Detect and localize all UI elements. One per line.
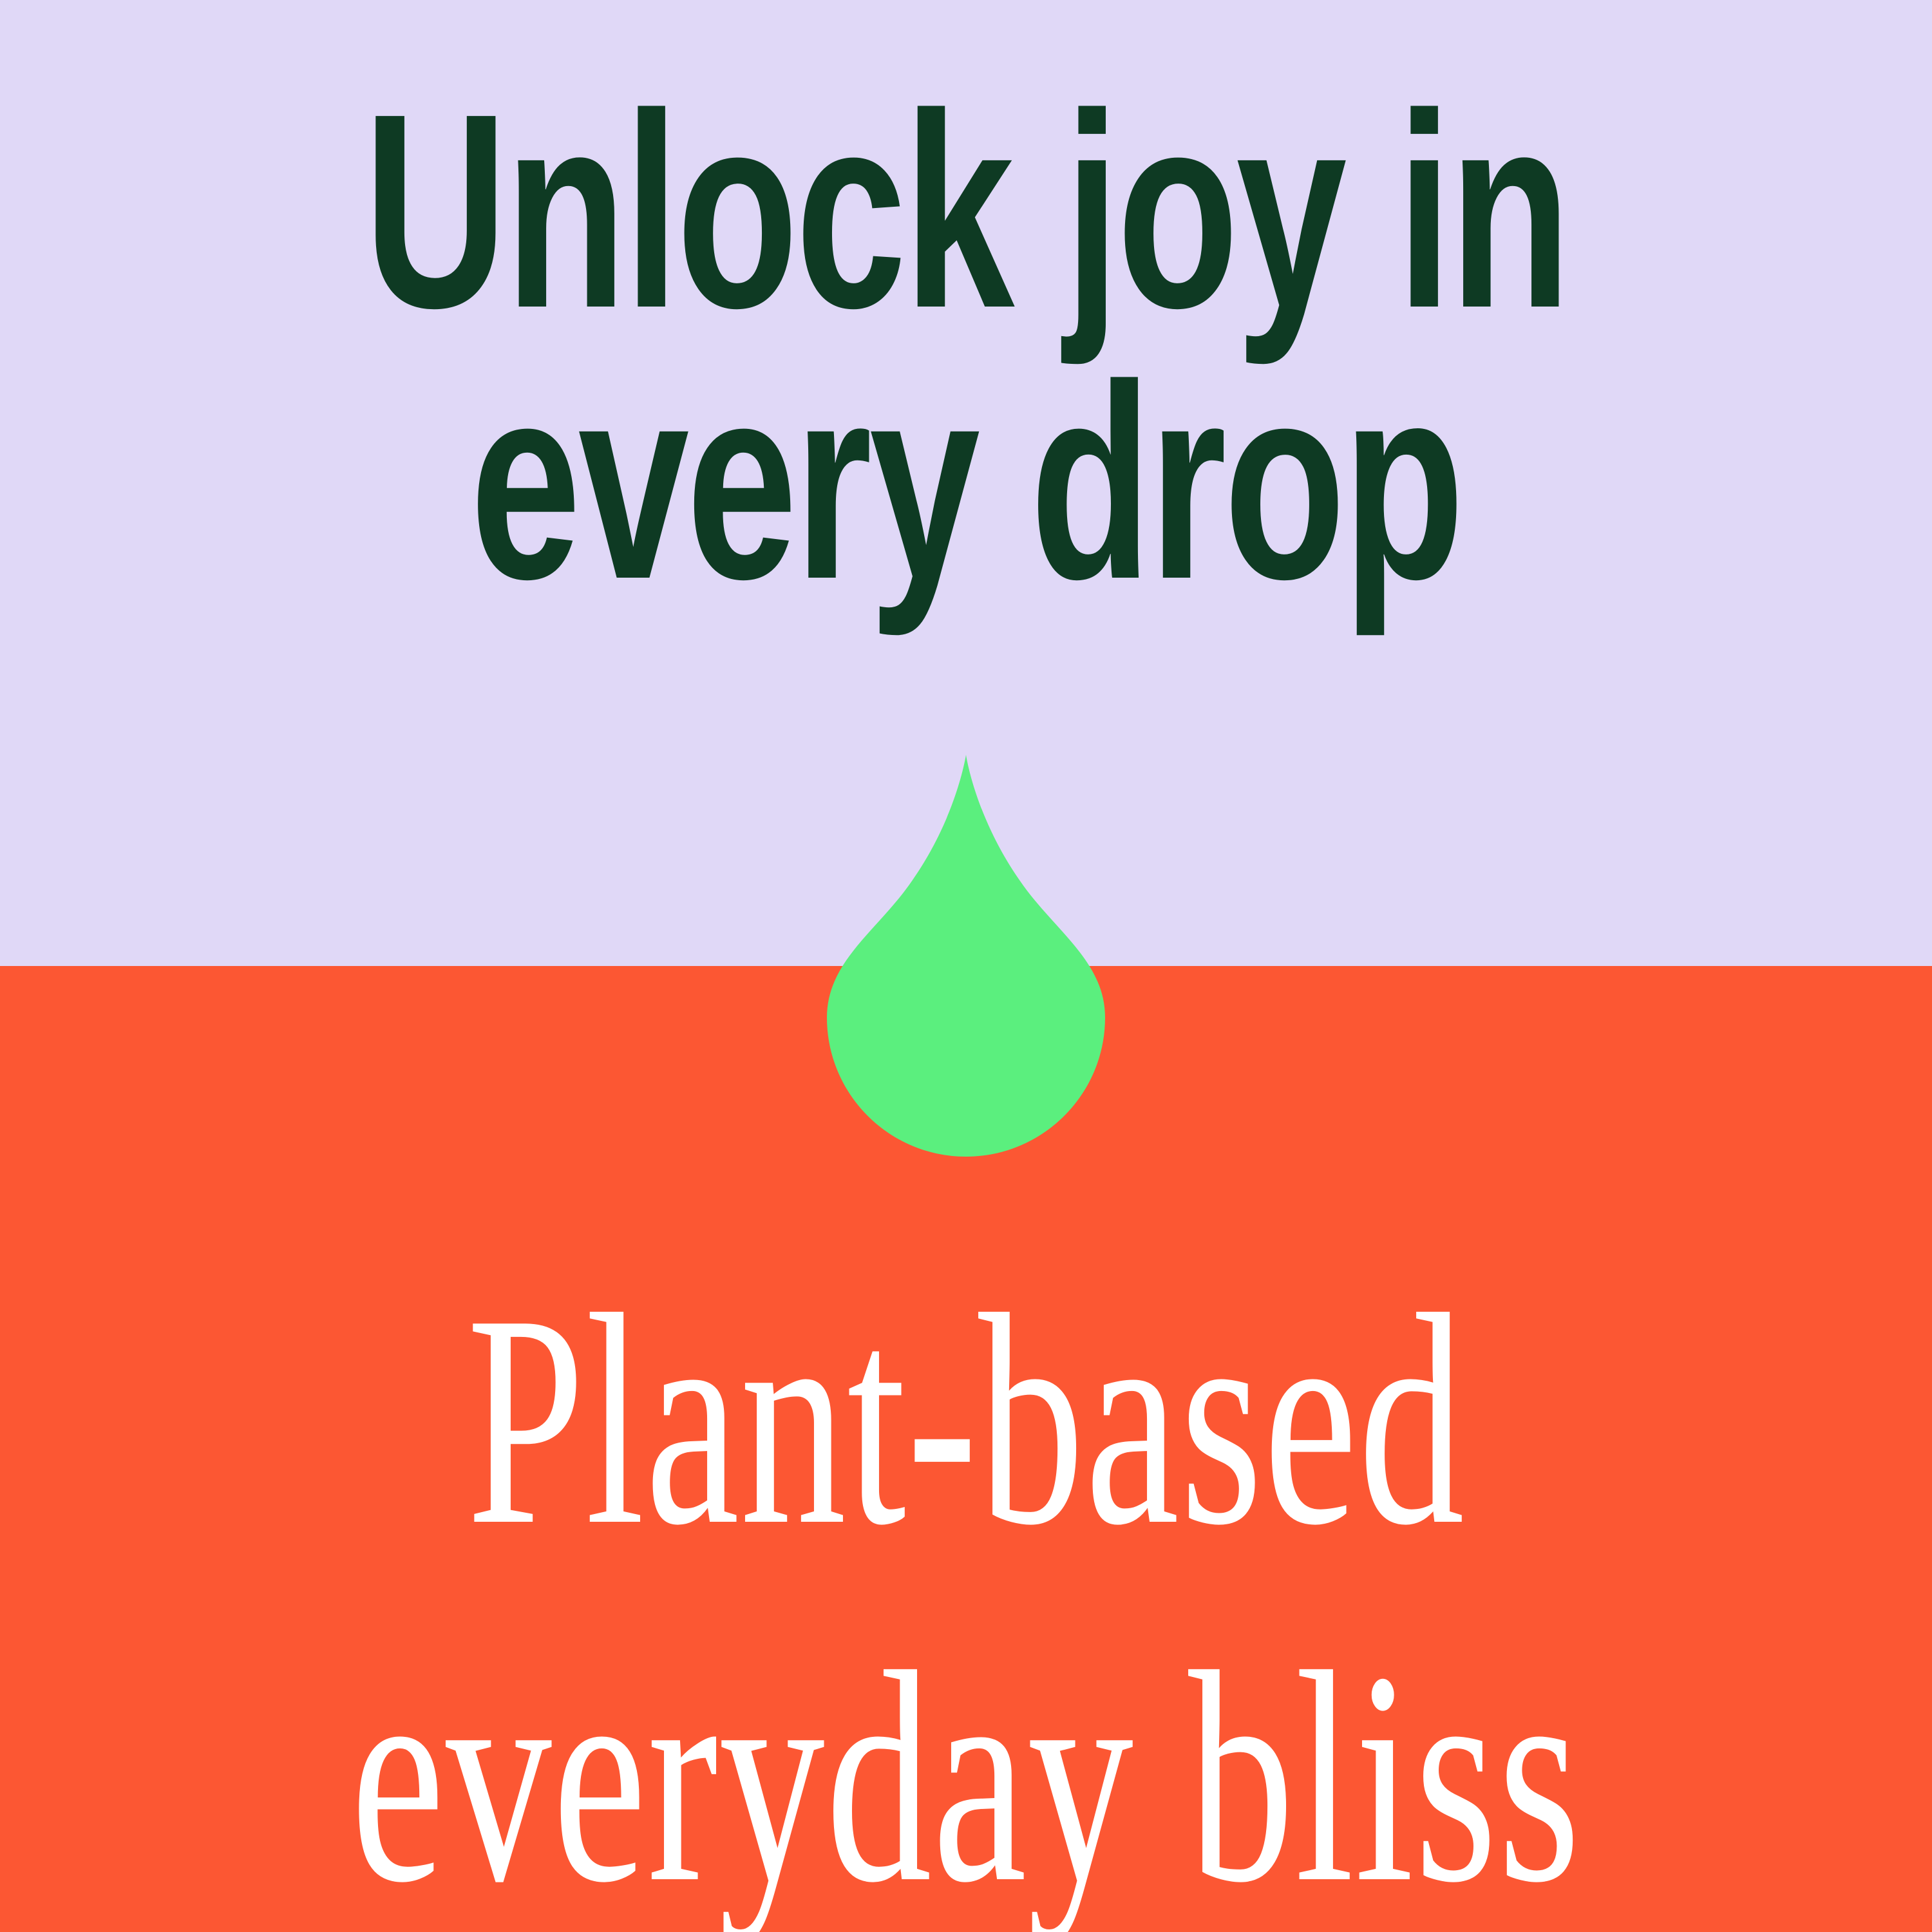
water-drop-icon — [827, 755, 1105, 1157]
headline: Unlock joy in every drop — [270, 76, 1662, 619]
subheadline: Plant-based everyday bliss — [290, 1242, 1642, 1932]
subheadline-line-2: everyday bliss — [290, 1599, 1642, 1932]
poster-canvas: Unlock joy in every drop Plant-based eve… — [0, 0, 1932, 1932]
headline-line-1: Unlock joy in — [270, 76, 1662, 347]
subheadline-line-1: Plant-based — [290, 1242, 1642, 1599]
headline-line-2: every drop — [270, 347, 1662, 618]
